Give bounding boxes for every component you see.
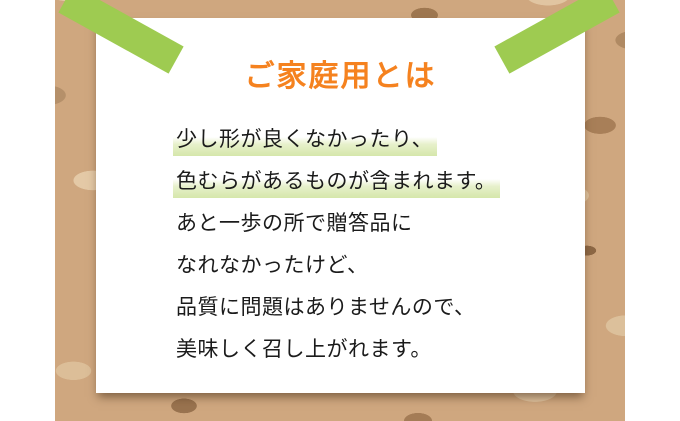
body-line-6-text: 美味しく召し上がれます。 [176,337,432,361]
body-line-4-text: なれなかったけど、 [176,253,368,277]
body-line-3-text: あと一歩の所で贈答品に [176,211,413,235]
body-line-2: 色むらがあるものが含まれます。 [176,160,496,202]
body-line-5-text: 品質に問題はありませんので、 [176,295,476,319]
card-content: ご家庭用とは 少し形が良くなかったり、 色むらがあるものが含まれます。 あと一歩… [96,18,585,393]
body-line-1-text: 少し形が良くなかったり、 [176,127,433,151]
page-title: ご家庭用とは [96,51,585,95]
body-line-5: 品質に問題はありませんので、 [176,286,476,328]
body-line-1: 少し形が良くなかったり、 [176,118,433,160]
body-text-block: 少し形が良くなかったり、 色むらがあるものが含まれます。 あと一歩の所で贈答品に… [176,118,585,370]
poster-canvas: ご家庭用とは 少し形が良くなかったり、 色むらがあるものが含まれます。 あと一歩… [0,0,680,421]
body-line-2-text: 色むらがあるものが含まれます。 [176,169,496,193]
body-line-6: 美味しく召し上がれます。 [176,328,432,370]
body-line-3: あと一歩の所で贈答品に [176,202,413,244]
body-line-4: なれなかったけど、 [176,244,368,286]
